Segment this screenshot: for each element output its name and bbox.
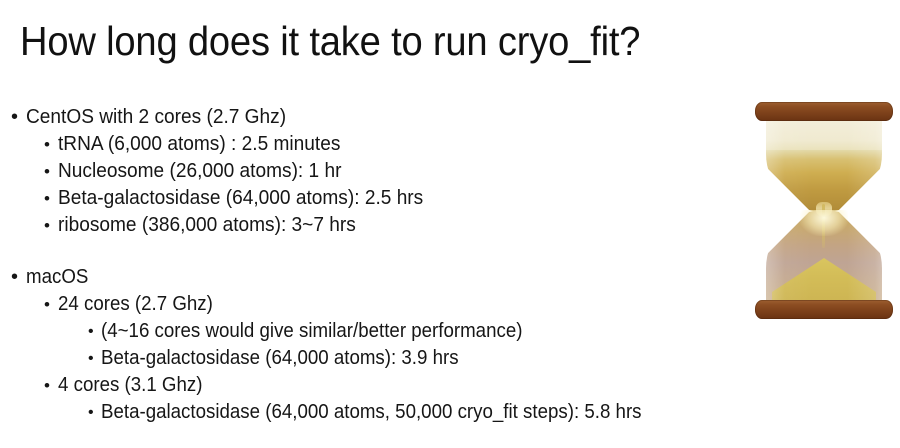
bullet-marker-icon: • <box>88 399 94 426</box>
list-item: • CentOS with 2 cores (2.7 Ghz) <box>0 104 740 131</box>
list-item-label: CentOS with 2 cores (2.7 Ghz) <box>26 104 286 131</box>
hourglass-bottom-cap-icon <box>755 300 893 319</box>
bullet-marker-icon: • <box>44 185 50 212</box>
list-item: • (4~16 cores would give similar/better … <box>0 318 740 345</box>
bullet-marker-icon: • <box>11 264 18 291</box>
hourglass-glass <box>766 118 882 304</box>
list-item-label: Beta-galactosidase (64,000 atoms): 2.5 h… <box>58 185 423 212</box>
hourglass-sand-glow <box>800 210 848 236</box>
list-item: • Nucleosome (26,000 atoms): 1 hr <box>0 158 740 185</box>
list-item: • Beta-galactosidase (64,000 atoms, 50,0… <box>0 399 740 426</box>
list-item-label: macOS <box>26 264 88 291</box>
bullet-group-centos: • CentOS with 2 cores (2.7 Ghz) • tRNA (… <box>0 104 740 239</box>
list-item-label: ribosome (386,000 atoms): 3~7 hrs <box>58 212 356 239</box>
list-item: • Beta-galactosidase (64,000 atoms): 2.5… <box>0 185 740 212</box>
bullet-group-macos: • macOS • 24 cores (2.7 Ghz) • (4~16 cor… <box>0 264 740 426</box>
list-item: • 4 cores (3.1 Ghz) <box>0 372 740 399</box>
hourglass-icon <box>752 100 896 324</box>
hourglass-top-cap-icon <box>755 102 893 121</box>
list-item-label: Nucleosome (26,000 atoms): 1 hr <box>58 158 341 185</box>
hourglass-upper-empty-space <box>766 118 882 150</box>
list-item: • tRNA (6,000 atoms) : 2.5 minutes <box>0 131 740 158</box>
list-item-label: (4~16 cores would give similar/better pe… <box>101 318 522 345</box>
bullet-marker-icon: • <box>44 131 50 158</box>
bullet-marker-icon: • <box>44 212 50 239</box>
bullet-marker-icon: • <box>44 372 50 399</box>
bullet-marker-icon: • <box>88 318 94 345</box>
list-item: • macOS <box>0 264 740 291</box>
list-item: • Beta-galactosidase (64,000 atoms): 3.9… <box>0 345 740 372</box>
bullet-marker-icon: • <box>88 345 94 372</box>
list-item-label: Beta-galactosidase (64,000 atoms): 3.9 h… <box>101 345 459 372</box>
bullet-marker-icon: • <box>44 158 50 185</box>
list-item: • ribosome (386,000 atoms): 3~7 hrs <box>0 212 740 239</box>
list-item-label: tRNA (6,000 atoms) : 2.5 minutes <box>58 131 340 158</box>
slide-canvas: How long does it take to run cryo_fit? •… <box>0 0 900 448</box>
bullet-marker-icon: • <box>44 291 50 318</box>
list-item-label: 4 cores (3.1 Ghz) <box>58 372 202 399</box>
bullet-list: • CentOS with 2 cores (2.7 Ghz) • tRNA (… <box>0 104 740 426</box>
list-item-label: 24 cores (2.7 Ghz) <box>58 291 213 318</box>
bullet-marker-icon: • <box>11 104 18 131</box>
page-title: How long does it take to run cryo_fit? <box>20 17 708 65</box>
list-item: • 24 cores (2.7 Ghz) <box>0 291 740 318</box>
list-item-label: Beta-galactosidase (64,000 atoms, 50,000… <box>101 399 642 426</box>
